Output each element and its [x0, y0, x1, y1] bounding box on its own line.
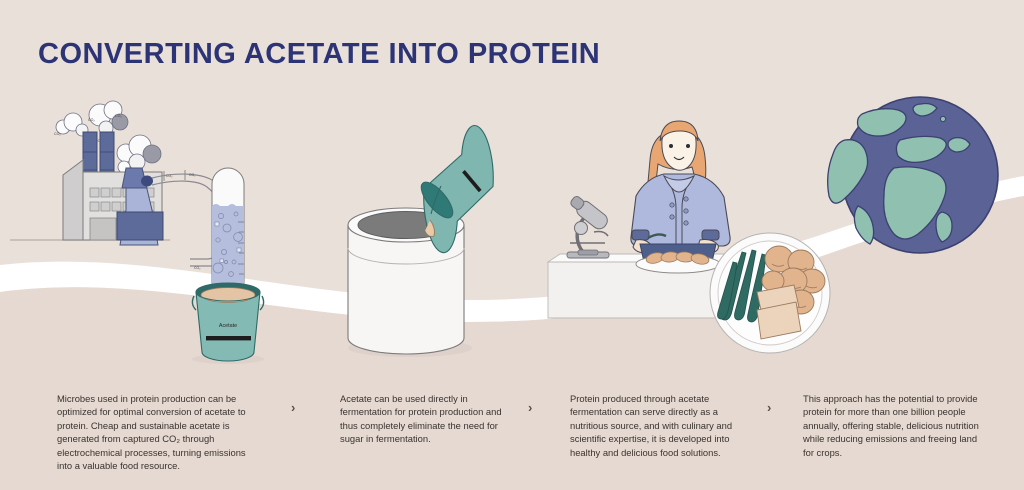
- microscope-icon: [567, 193, 610, 258]
- cuff-right: [702, 230, 719, 240]
- smoke-tower-icon: [117, 135, 161, 173]
- bread-slice-icon: [757, 285, 801, 339]
- globe-icon: [828, 97, 998, 253]
- scene-fermentation-tank: [348, 124, 498, 357]
- acetate-bucket-icon: Acetate: [192, 283, 264, 364]
- pipe-label: CO₂: [189, 173, 196, 177]
- pipe-label: CO₂: [166, 174, 173, 178]
- step-3-caption: Protein produced through acetate ferment…: [570, 392, 750, 459]
- scene-chef-preparing-food: [548, 121, 730, 318]
- scene-factory-emissions-capture: CO₂ CO₂ CO₂ CO₂: [10, 101, 264, 364]
- step-separator-2-icon: ›: [528, 400, 532, 415]
- pipe-label: CO₂: [194, 266, 201, 270]
- emission-label: CO₂: [54, 132, 61, 136]
- cuff-left: [632, 230, 649, 240]
- infographic-canvas: CONVERTING ACETATE INTO PROTEIN: [0, 0, 1024, 490]
- emission-label: CO₂: [88, 118, 95, 122]
- step-2-caption: Acetate can be used directly in fermenta…: [340, 392, 518, 446]
- step-1-caption: Microbes used in protein production can …: [57, 392, 262, 472]
- plated-meal-icon: [710, 233, 830, 353]
- step-separator-3-icon: ›: [767, 400, 771, 415]
- bucket-stripe: [206, 336, 251, 340]
- bucket-label: Acetate: [219, 323, 237, 329]
- step-4-caption: This approach has the potential to provi…: [803, 392, 988, 459]
- emission-label: CO₂: [115, 114, 122, 118]
- pipe-joint: [141, 176, 153, 187]
- scene-global-impact: [710, 97, 998, 353]
- caption-row: Microbes used in protein production can …: [0, 392, 1024, 490]
- chef-icon: [631, 121, 730, 262]
- step-separator-1-icon: ›: [291, 400, 295, 415]
- island-icon: [940, 116, 945, 121]
